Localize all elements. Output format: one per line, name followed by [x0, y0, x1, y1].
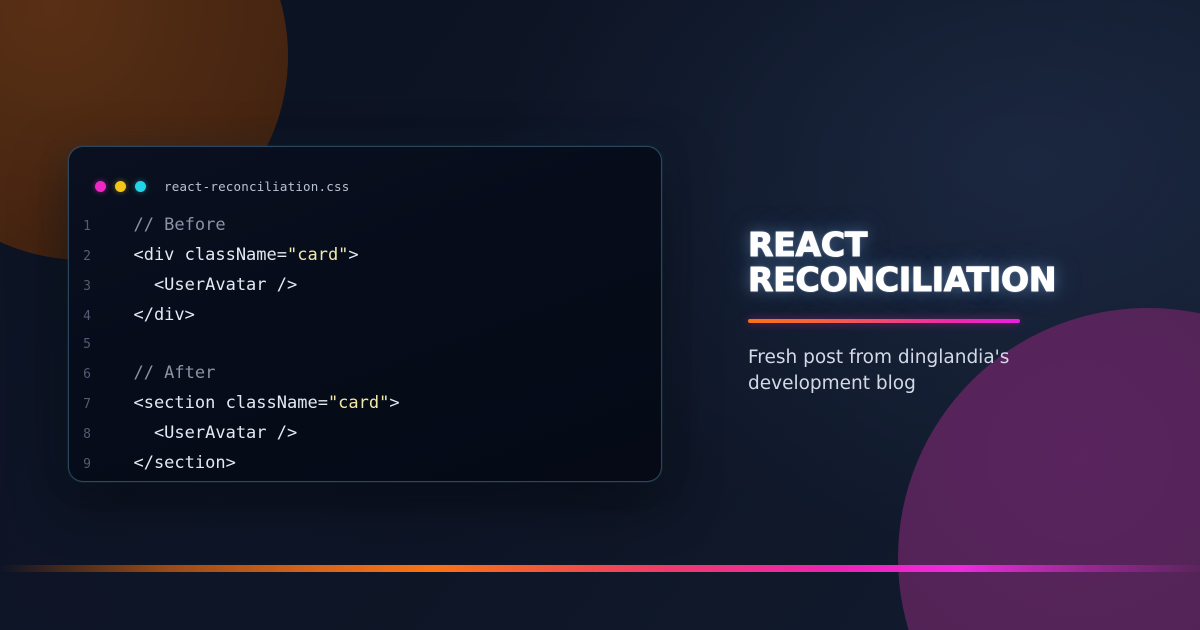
line-number: 6 [69, 361, 113, 389]
code-line: 9 </section> [69, 449, 661, 479]
code-token-plain: <UserAvatar /> [113, 423, 297, 443]
line-source: <UserAvatar /> [113, 419, 297, 447]
page-title: React Reconciliation [748, 228, 1088, 297]
close-dot-icon[interactable] [95, 181, 106, 192]
line-number: 2 [69, 243, 113, 271]
code-line: 5 [69, 331, 661, 359]
maximize-dot-icon[interactable] [135, 181, 146, 192]
minimize-dot-icon[interactable] [115, 181, 126, 192]
code-card-titlebar: react-reconciliation.css [69, 147, 661, 199]
line-source: </section> [113, 449, 236, 477]
code-token-plain: > [389, 393, 399, 413]
line-number: 1 [69, 213, 113, 241]
file-name-label: react-reconciliation.css [164, 179, 349, 194]
code-token-plain: </div> [113, 305, 195, 325]
subtitle-text: Fresh post from dinglandia's development… [748, 345, 1026, 397]
line-number: 7 [69, 391, 113, 419]
line-source: // After [113, 359, 215, 387]
code-token-plain: <UserAvatar /> [113, 275, 297, 295]
code-token-comment: // After [113, 363, 215, 383]
code-line: 4 </div> [69, 301, 661, 331]
line-source: // Before [113, 211, 226, 239]
line-source: <div className="card"> [113, 241, 359, 269]
code-line: 8 <UserAvatar /> [69, 419, 661, 449]
line-number: 3 [69, 273, 113, 301]
page-title-line-2: Reconciliation [748, 263, 1088, 298]
code-line: 3 <UserAvatar /> [69, 271, 661, 301]
code-token-plain: </section> [113, 453, 236, 473]
line-number: 5 [69, 331, 113, 359]
code-line: 6 // After [69, 359, 661, 389]
social-card-canvas: react-reconciliation.css 1 // Before2 <d… [0, 0, 1200, 630]
code-snippet-card: react-reconciliation.css 1 // Before2 <d… [68, 146, 662, 482]
line-number: 4 [69, 303, 113, 331]
code-block: 1 // Before2 <div className="card">3 <Us… [69, 199, 661, 479]
code-token-plain: <section className= [113, 393, 328, 413]
line-source: </div> [113, 301, 195, 329]
bottom-gradient-rule [0, 565, 1200, 572]
code-line: 2 <div className="card"> [69, 241, 661, 271]
code-token-comment: // Before [113, 215, 226, 235]
headline-block: React Reconciliation Fresh post from din… [748, 228, 1088, 397]
page-title-line-1: React [748, 228, 1088, 263]
code-token-string: "card" [328, 393, 389, 413]
accent-underline [748, 319, 1020, 323]
line-number: 9 [69, 451, 113, 479]
code-token-plain: > [348, 245, 358, 265]
code-token-plain: <div className= [113, 245, 287, 265]
line-source: <section className="card"> [113, 389, 400, 417]
code-line: 1 // Before [69, 211, 661, 241]
code-line: 7 <section className="card"> [69, 389, 661, 419]
line-source: <UserAvatar /> [113, 271, 297, 299]
code-token-string: "card" [287, 245, 348, 265]
line-number: 8 [69, 421, 113, 449]
